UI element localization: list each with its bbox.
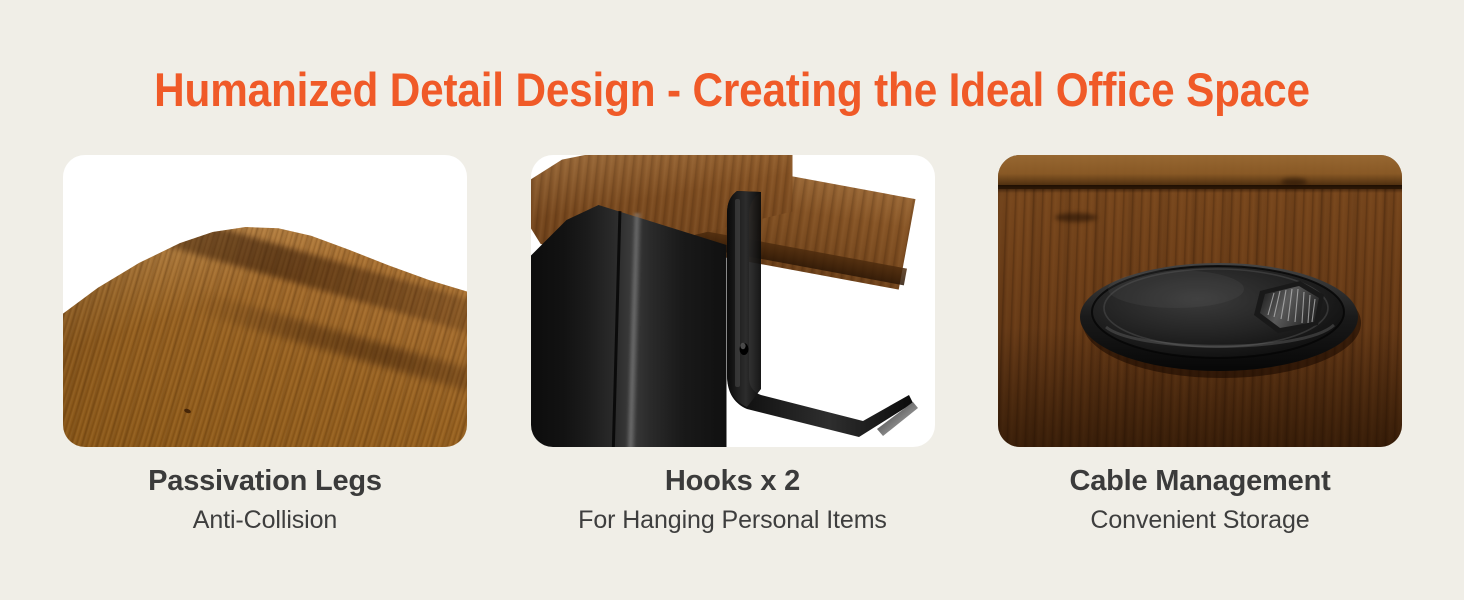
feature-panel-passivation-legs: Passivation Legs Anti-Collision (63, 155, 467, 550)
feature-panels: Passivation Legs Anti-Collision (63, 155, 1402, 550)
feature-caption-passivation-legs: Passivation Legs Anti-Collision (45, 463, 485, 536)
wood-back-edge (998, 155, 1402, 189)
feature-panel-hooks: Hooks x 2 For Hanging Personal Items (531, 155, 935, 550)
feature-image-card-cable-management (998, 155, 1402, 447)
cable-grommet-icon (1076, 253, 1362, 379)
feature-subtitle: For Hanging Personal Items (513, 504, 953, 536)
feature-image-card-hooks (531, 155, 935, 447)
feature-title: Hooks x 2 (513, 463, 953, 499)
infographic-page: Humanized Detail Design - Creating the I… (0, 0, 1464, 600)
feature-subtitle: Anti-Collision (45, 504, 485, 536)
desk-hook-icon (727, 189, 922, 444)
edge-highlight (63, 201, 467, 447)
feature-panel-cable-management: Cable Management Convenient Storage (998, 155, 1402, 550)
feature-subtitle: Convenient Storage (980, 504, 1420, 536)
feature-caption-cable-management: Cable Management Convenient Storage (980, 463, 1420, 536)
feature-image-card-passivation-legs (63, 155, 467, 447)
wood-back-edge-shadow (998, 185, 1402, 193)
page-title: Humanized Detail Design - Creating the I… (73, 62, 1391, 118)
feature-title: Cable Management (980, 463, 1420, 499)
feature-title: Passivation Legs (45, 463, 485, 499)
feature-caption-hooks: Hooks x 2 For Hanging Personal Items (513, 463, 953, 536)
wood-desk-corner-icon (63, 201, 467, 447)
